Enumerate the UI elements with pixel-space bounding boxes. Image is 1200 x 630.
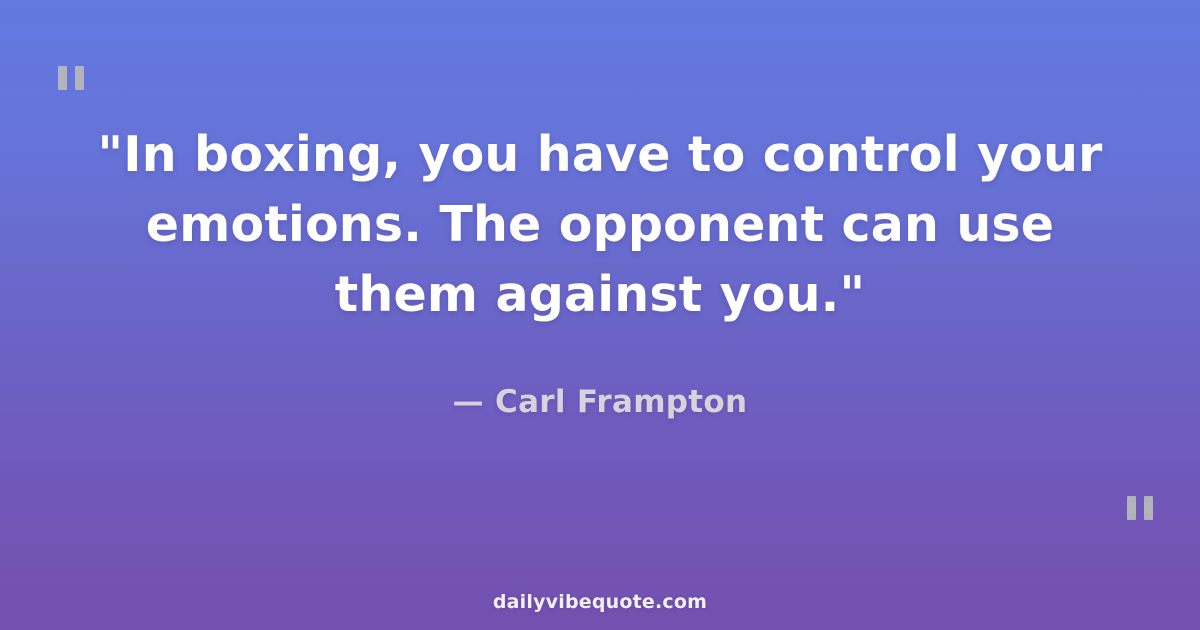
quote-bars-icon-bottom-right <box>1127 496 1153 520</box>
quote-card: "In boxing, you have to control your emo… <box>0 0 1200 630</box>
quote-bar-left <box>1127 496 1136 520</box>
footer: dailyvibequote.com <box>0 591 1200 613</box>
quote-content: "In boxing, you have to control your emo… <box>0 0 1200 540</box>
site-name: dailyvibequote.com <box>493 591 707 613</box>
quote-text: "In boxing, you have to control your emo… <box>70 120 1130 330</box>
quote-attribution: — Carl Frampton <box>453 384 748 420</box>
quote-bar-right <box>1144 496 1153 520</box>
